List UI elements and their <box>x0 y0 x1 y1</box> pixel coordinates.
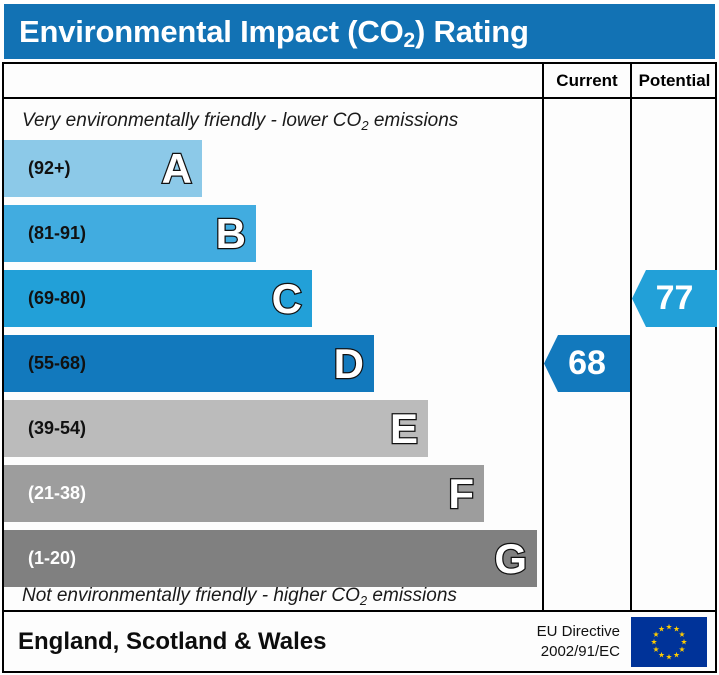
epc-environmental-impact-certificate: Environmental Impact (CO2) Rating Curren… <box>0 0 719 675</box>
band-range-g: (1-20) <box>28 548 76 569</box>
column-header-potential: Potential <box>632 64 717 97</box>
rating-arrow-potential: 77 <box>632 270 717 327</box>
column-divider-potential <box>630 64 632 610</box>
caption-bottom-prefix: Not environmentally friendly - higher CO <box>22 585 360 606</box>
eu-flag-icon <box>631 617 707 667</box>
caption-bottom: Not environmentally friendly - higher CO… <box>22 585 457 607</box>
band-range-a: (92+) <box>28 158 71 179</box>
band-letter-b: B <box>216 213 246 255</box>
rating-band-d: (55-68)D <box>4 335 374 392</box>
band-letter-e: E <box>390 408 418 450</box>
rating-bands: (92+)A(81-91)B(69-80)C(55-68)D(39-54)E(2… <box>4 64 542 610</box>
band-letter-a: A <box>162 148 192 190</box>
title-subscript: 2 <box>404 29 415 52</box>
rating-band-c: (69-80)C <box>4 270 312 327</box>
title-suffix: ) Rating <box>415 14 529 49</box>
rating-band-e: (39-54)E <box>4 400 428 457</box>
caption-bottom-subscript: 2 <box>360 593 367 608</box>
rating-band-f: (21-38)F <box>4 465 484 522</box>
rating-table: Current Potential Very environmentally f… <box>2 62 717 612</box>
footer-directive-line1: EU Directive <box>537 621 620 641</box>
footer-directive-line2: 2002/91/EC <box>537 642 620 662</box>
footer-directive: EU Directive 2002/91/EC <box>537 621 620 662</box>
page-title: Environmental Impact (CO2) Rating <box>19 14 529 50</box>
rating-arrow-current: 68 <box>544 335 630 392</box>
column-header-current: Current <box>544 64 630 97</box>
rating-band-a: (92+)A <box>4 140 202 197</box>
footer-region-label: England, Scotland & Wales <box>18 628 326 656</box>
band-range-b: (81-91) <box>28 223 86 244</box>
band-letter-d: D <box>334 343 364 385</box>
band-letter-g: G <box>494 538 527 580</box>
band-letter-c: C <box>272 278 302 320</box>
rating-band-b: (81-91)B <box>4 205 256 262</box>
band-range-f: (21-38) <box>28 483 86 504</box>
rating-band-g: (1-20)G <box>4 530 537 587</box>
column-divider-current <box>542 64 544 610</box>
title-prefix: Environmental Impact (CO <box>19 14 404 49</box>
footer-bar: England, Scotland & Wales EU Directive 2… <box>2 612 717 673</box>
title-bar: Environmental Impact (CO2) Rating <box>4 4 715 59</box>
band-letter-f: F <box>448 473 474 515</box>
band-range-c: (69-80) <box>28 288 86 309</box>
band-range-d: (55-68) <box>28 353 86 374</box>
band-range-e: (39-54) <box>28 418 86 439</box>
caption-bottom-suffix: emissions <box>367 585 457 606</box>
